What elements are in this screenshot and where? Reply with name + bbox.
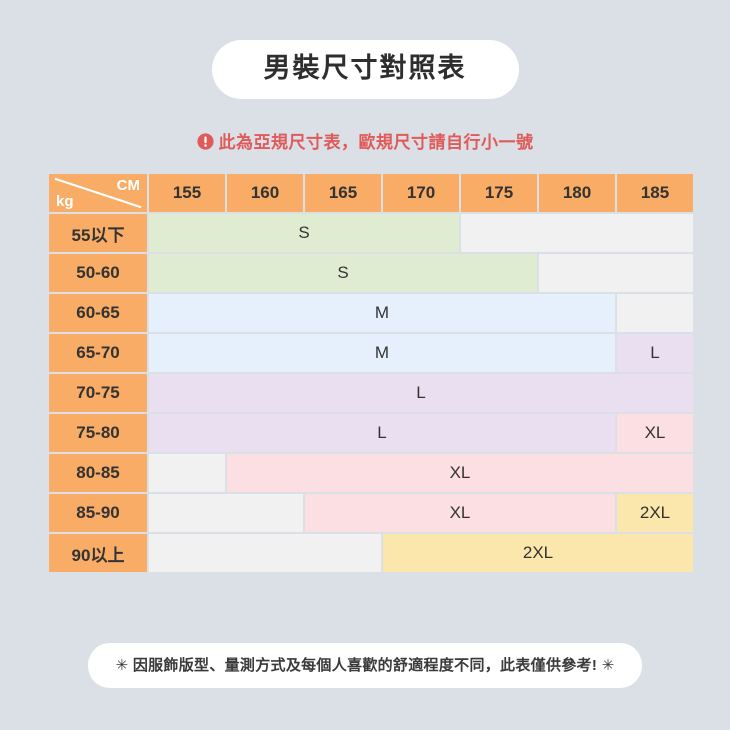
warning-text: 此為亞規尺寸表，歐規尺寸請自行小一號	[219, 128, 534, 153]
column-header-155: 155	[149, 174, 225, 212]
table-row: 60-65M	[49, 294, 693, 332]
table-row: 70-75L	[49, 374, 693, 412]
table-row: 80-85XL	[49, 454, 693, 492]
axis-label-kg: kg	[56, 193, 74, 210]
table-row: 85-90XL2XL	[49, 494, 693, 532]
exclamation-circle-icon	[197, 133, 214, 150]
size-cell-2XL: 2XL	[383, 534, 693, 572]
row-header-90以上: 90以上	[49, 534, 147, 572]
row-header-80-85: 80-85	[49, 454, 147, 492]
footer-banner: ✳ 因服飾版型、量測方式及每個人喜歡的舒適程度不同，此表僅供參考! ✳	[0, 643, 730, 688]
size-cell-L: L	[149, 374, 693, 412]
column-header-170: 170	[383, 174, 459, 212]
size-cell-XL: XL	[227, 454, 693, 492]
title-banner: 男裝尺寸對照表	[0, 40, 730, 99]
size-cell-M: M	[149, 294, 615, 332]
size-cell-XL: XL	[305, 494, 615, 532]
size-cell-XL: XL	[617, 414, 693, 452]
table-row: 50-60S	[49, 254, 693, 292]
row-header-65-70: 65-70	[49, 334, 147, 372]
size-cell-empty	[539, 254, 693, 292]
row-header-70-75: 70-75	[49, 374, 147, 412]
table-row: 90以上2XL	[49, 534, 693, 572]
page-title: 男裝尺寸對照表	[212, 40, 519, 99]
warning-notice: 此為亞規尺寸表，歐規尺寸請自行小一號	[0, 128, 730, 153]
size-cell-L: L	[149, 414, 615, 452]
row-header-50-60: 50-60	[49, 254, 147, 292]
column-header-180: 180	[539, 174, 615, 212]
axis-corner-cell: CMkg	[49, 174, 147, 212]
column-header-175: 175	[461, 174, 537, 212]
size-cell-empty	[461, 214, 693, 252]
size-cell-S: S	[149, 214, 459, 252]
size-cell-M: M	[149, 334, 615, 372]
size-chart-table: CMkg15516016517017518018555以下S50-60S60-6…	[47, 172, 695, 574]
table-row: 65-70ML	[49, 334, 693, 372]
row-header-85-90: 85-90	[49, 494, 147, 532]
axis-label-cm: CM	[117, 177, 140, 194]
row-header-55以下: 55以下	[49, 214, 147, 252]
size-cell-empty	[617, 294, 693, 332]
row-header-75-80: 75-80	[49, 414, 147, 452]
table-row: 55以下S	[49, 214, 693, 252]
column-header-160: 160	[227, 174, 303, 212]
size-cell-empty	[149, 534, 381, 572]
size-cell-empty	[149, 454, 225, 492]
size-cell-L: L	[617, 334, 693, 372]
size-cell-S: S	[149, 254, 537, 292]
column-header-185: 185	[617, 174, 693, 212]
size-cell-2XL: 2XL	[617, 494, 693, 532]
table-row: 75-80LXL	[49, 414, 693, 452]
column-header-165: 165	[305, 174, 381, 212]
row-header-60-65: 60-65	[49, 294, 147, 332]
size-cell-empty	[149, 494, 303, 532]
table-header-row: CMkg155160165170175180185	[49, 174, 693, 212]
footer-note: ✳ 因服飾版型、量測方式及每個人喜歡的舒適程度不同，此表僅供參考! ✳	[88, 643, 643, 688]
